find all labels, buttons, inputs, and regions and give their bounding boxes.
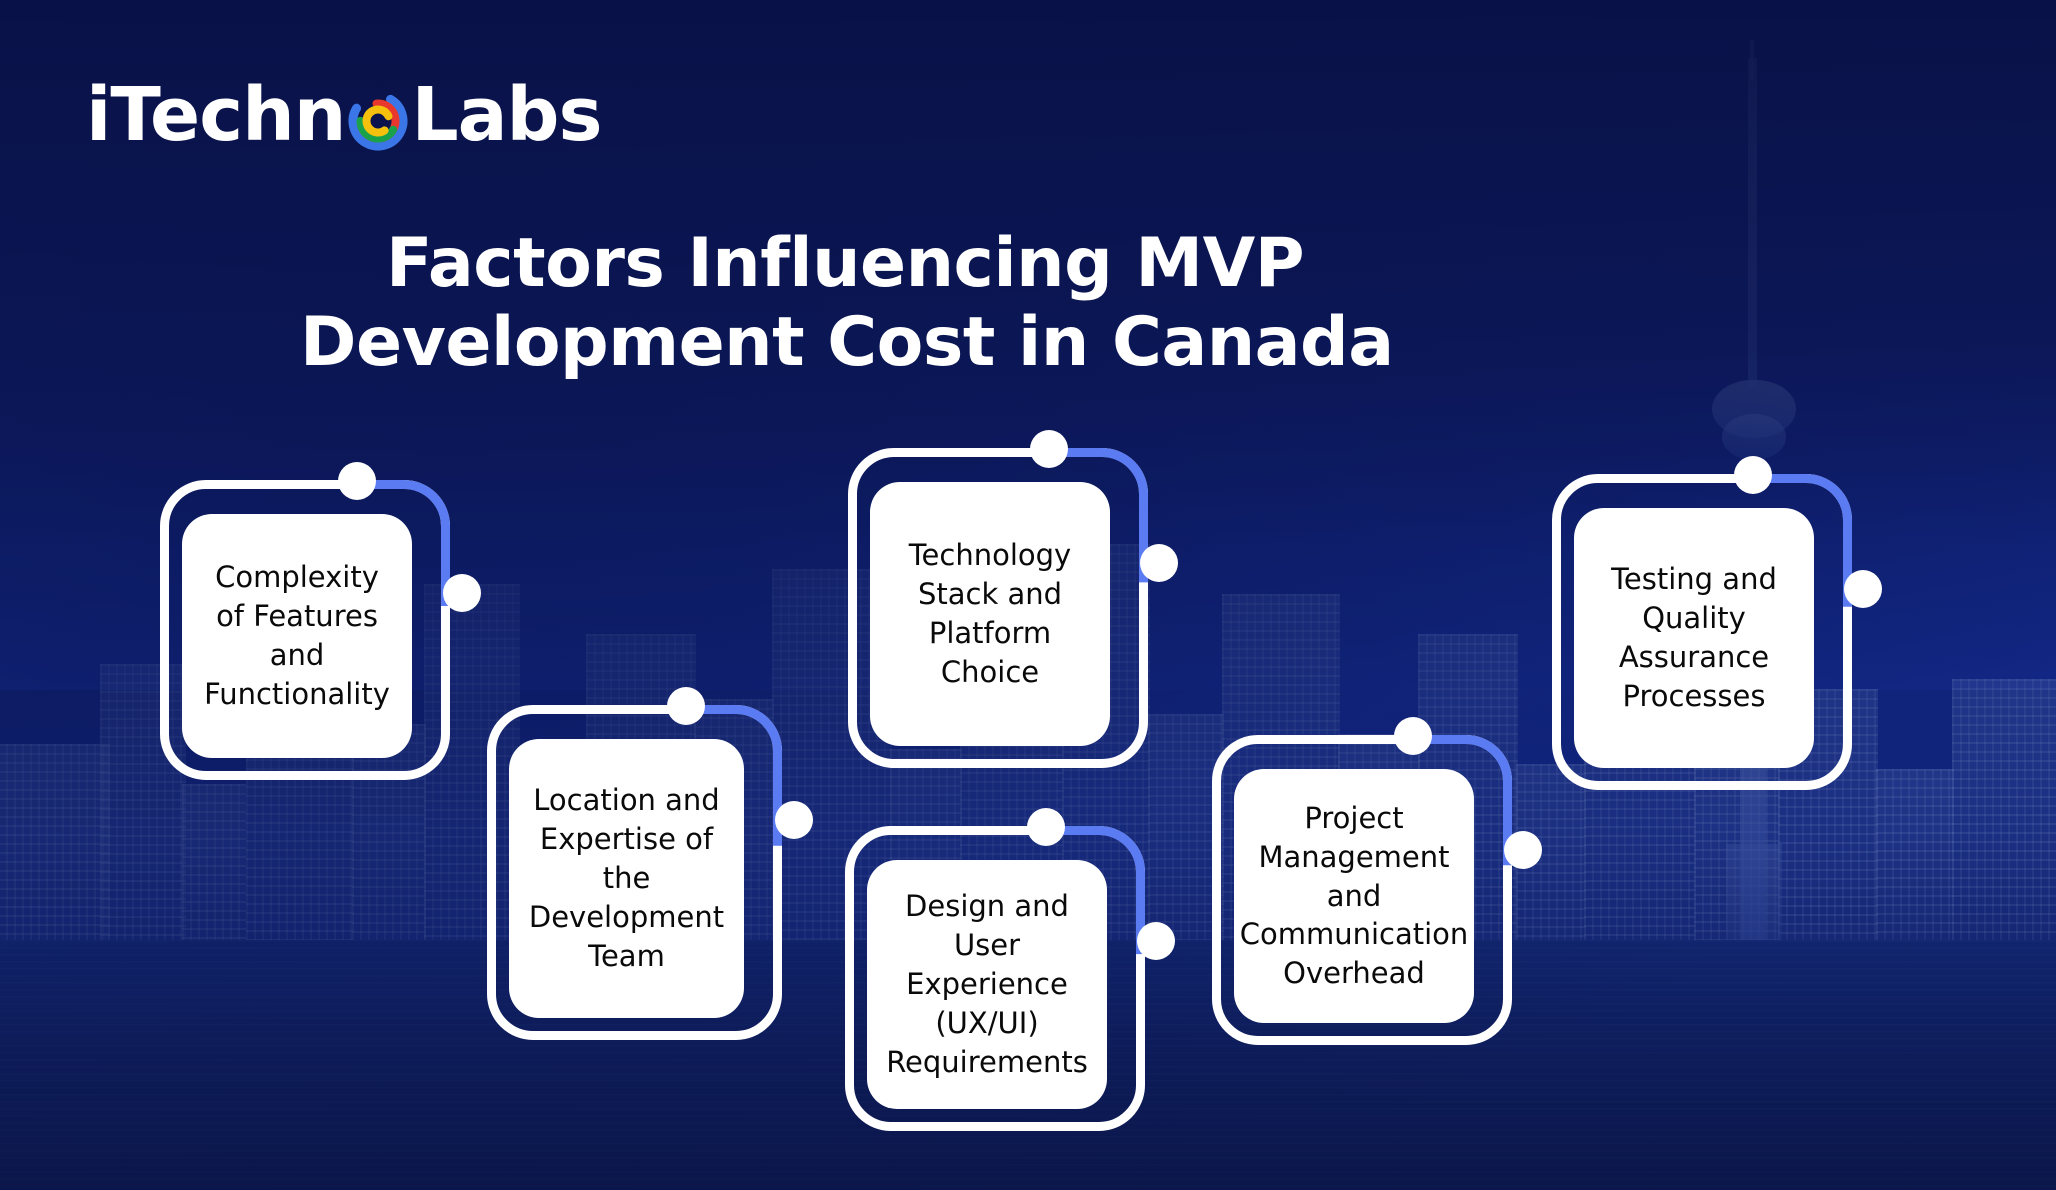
page-title-line1: Factors Influencing MVP [300,225,1390,304]
page-title: Factors Influencing MVP Development Cost… [300,225,1390,383]
card-node-right [1844,570,1882,608]
factor-card-tech-stack[interactable]: Technology Stack and Platform Choice [848,448,1148,768]
card-node-top [1030,430,1068,468]
card-label: Testing and Quality Assurance Processes [1574,508,1814,768]
infographic-canvas: iTechn Labs Factors Influencing MVP Deve… [0,0,2056,1190]
factor-card-design-ux[interactable]: Design and User Experience (UX/UI) Requi… [845,826,1145,1131]
factor-card-location[interactable]: Location and Expertise of the Developmen… [487,705,782,1040]
brand-name-part2: Labs [411,78,601,152]
card-label: Design and User Experience (UX/UI) Requi… [867,860,1107,1109]
factor-card-testing-qa[interactable]: Testing and Quality Assurance Processes [1552,474,1852,790]
card-label: Complexity of Features and Functionality [182,514,412,758]
card-label: Project Management and Communication Ove… [1234,769,1474,1023]
brand-logo: iTechn Labs [86,78,602,152]
card-node-right [1140,544,1178,582]
card-node-top [1394,717,1432,755]
card-node-right [1504,831,1542,869]
card-label: Technology Stack and Platform Choice [870,482,1110,746]
factor-card-complexity[interactable]: Complexity of Features and Functionality [160,480,450,780]
card-node-top [1734,456,1772,494]
card-node-right [1137,922,1175,960]
card-node-right [443,574,481,612]
card-node-top [338,462,376,500]
factor-card-project-management[interactable]: Project Management and Communication Ove… [1212,735,1512,1045]
brand-name-part1: iTechn [86,78,345,152]
card-label: Location and Expertise of the Developmen… [509,739,744,1018]
card-node-top [1027,808,1065,846]
card-node-right [775,801,813,839]
page-title-line2: Development Cost in Canada [300,304,1390,383]
card-node-top [667,687,705,725]
multicolor-ring-icon [347,90,409,152]
